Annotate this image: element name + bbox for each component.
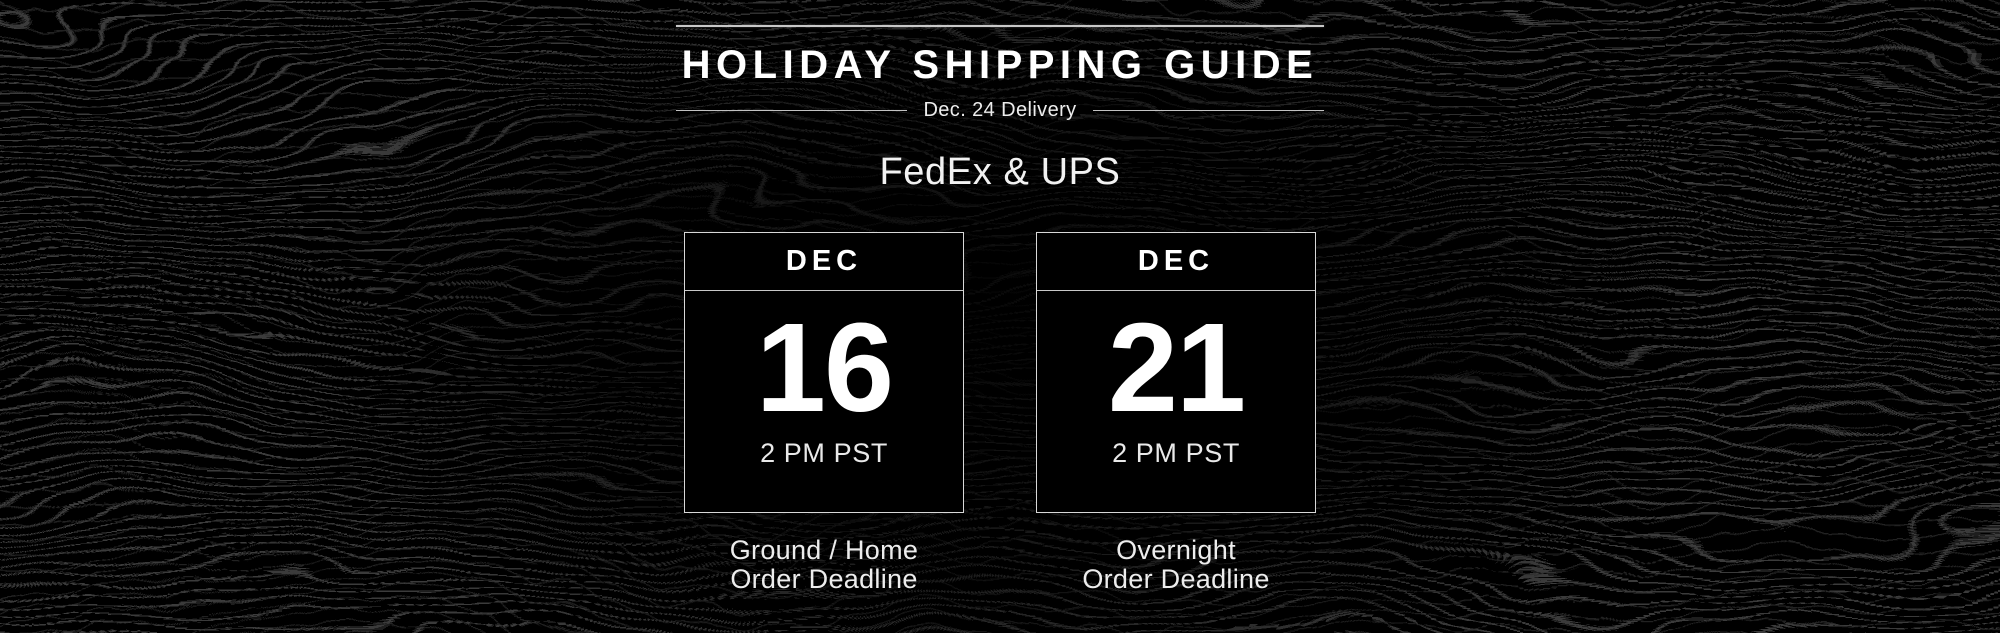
subtitle-text: Dec. 24 Delivery	[921, 100, 1078, 120]
deadline-card-ground: DEC 16 2 PM PST Ground / Home Order Dead…	[684, 232, 964, 594]
calendar-day-number: 21	[1108, 305, 1244, 431]
deadline-caption-line-1: Ground / Home	[730, 536, 918, 565]
carriers-label: FedEx & UPS	[879, 150, 1120, 196]
subtitle-rule-left	[676, 110, 907, 111]
calendar-card: DEC 16 2 PM PST	[684, 232, 964, 513]
calendar-card-header: DEC	[1037, 233, 1315, 291]
deadline-card-overnight: DEC 21 2 PM PST Overnight Order Deadline	[1036, 232, 1316, 594]
calendar-cutoff-time: 2 PM PST	[760, 440, 888, 467]
page-title: HOLIDAY SHIPPING GUIDE	[682, 44, 1319, 86]
deadline-caption: Ground / Home Order Deadline	[730, 536, 918, 594]
calendar-month-label: DEC	[786, 247, 862, 276]
subtitle-row: Dec. 24 Delivery	[676, 100, 1324, 120]
title-top-rule	[676, 25, 1324, 27]
calendar-card: DEC 21 2 PM PST	[1036, 232, 1316, 513]
calendar-card-body: 21 2 PM PST	[1037, 291, 1315, 512]
deadline-caption-line-1: Overnight	[1082, 536, 1269, 565]
deadline-caption: Overnight Order Deadline	[1082, 536, 1269, 594]
calendar-month-label: DEC	[1138, 247, 1214, 276]
deadline-cards-row: DEC 16 2 PM PST Ground / Home Order Dead…	[684, 232, 1316, 594]
calendar-cutoff-time: 2 PM PST	[1112, 440, 1240, 467]
deadline-caption-line-2: Order Deadline	[730, 565, 918, 594]
calendar-day-number: 16	[756, 305, 892, 431]
holiday-shipping-guide-banner: HOLIDAY SHIPPING GUIDE Dec. 24 Delivery …	[0, 0, 2000, 633]
calendar-card-header: DEC	[685, 233, 963, 291]
calendar-card-body: 16 2 PM PST	[685, 291, 963, 512]
deadline-caption-line-2: Order Deadline	[1082, 565, 1269, 594]
subtitle-rule-right	[1093, 110, 1324, 111]
